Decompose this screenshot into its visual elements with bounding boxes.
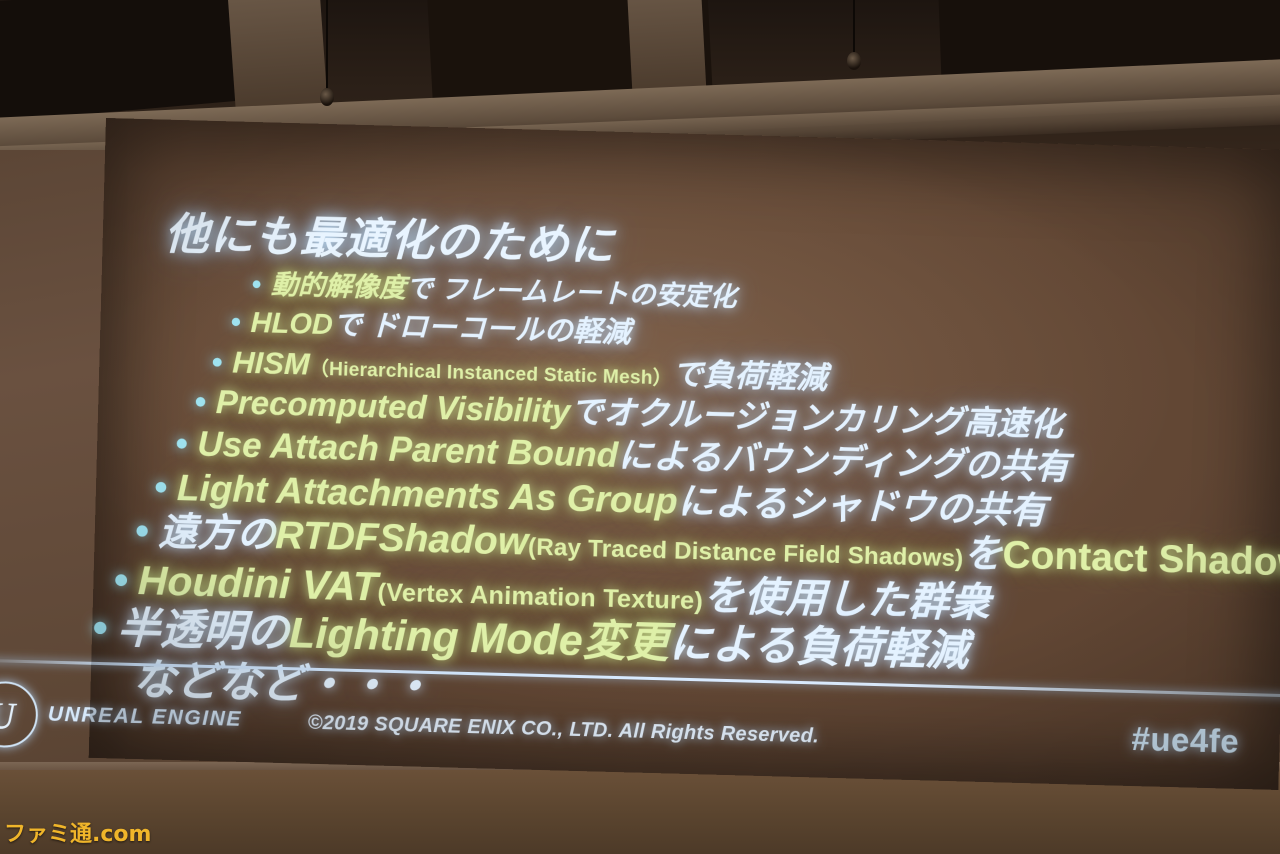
bullet-text-segment: による負荷軽減 [668, 619, 969, 675]
bullet-list: •動的解像度で フレームレートの安定化•HLODで ドローコールの軽減•HISM… [102, 258, 1280, 290]
famitsu-watermark: ファミ通.com [4, 816, 151, 848]
bullet-marker: • [92, 604, 108, 653]
pendant-light-fixture [847, 52, 861, 70]
unreal-engine-logo: U UNREAL ENGINE [0, 681, 273, 753]
photograph: 他にも最適化のために •動的解像度で フレームレートの安定化•HLODで ドロー… [0, 0, 1280, 854]
unreal-engine-wordmark: UNREAL ENGINE [48, 703, 243, 732]
pendant-light-fixture [320, 88, 334, 106]
projection-screen: 他にも最適化のために •動的解像度で フレームレートの安定化•HLODで ドロー… [89, 118, 1280, 790]
slide: 他にも最適化のために •動的解像度で フレームレートの安定化•HLODで ドロー… [89, 118, 1280, 790]
ue-letter: U [0, 694, 16, 739]
bullet-text-segment: Contact Shadow [1002, 533, 1280, 584]
pendant-light-rod [853, 0, 855, 58]
bullet-marker: • [230, 306, 241, 339]
pendant-light-rod [326, 0, 328, 96]
slide-title: 他にも最適化のために [164, 198, 616, 274]
copyright-notice: ©2019 SQUARE ENIX CO., LTD. All Rights R… [307, 712, 819, 749]
bullet-text-segment: 動的解像度 [271, 270, 407, 304]
unreal-engine-icon: U [0, 681, 39, 749]
bullet-text-segment: HLOD [250, 307, 333, 341]
event-hashtag: #ue4fe [1131, 720, 1240, 761]
bullet-marker: • [251, 269, 261, 300]
